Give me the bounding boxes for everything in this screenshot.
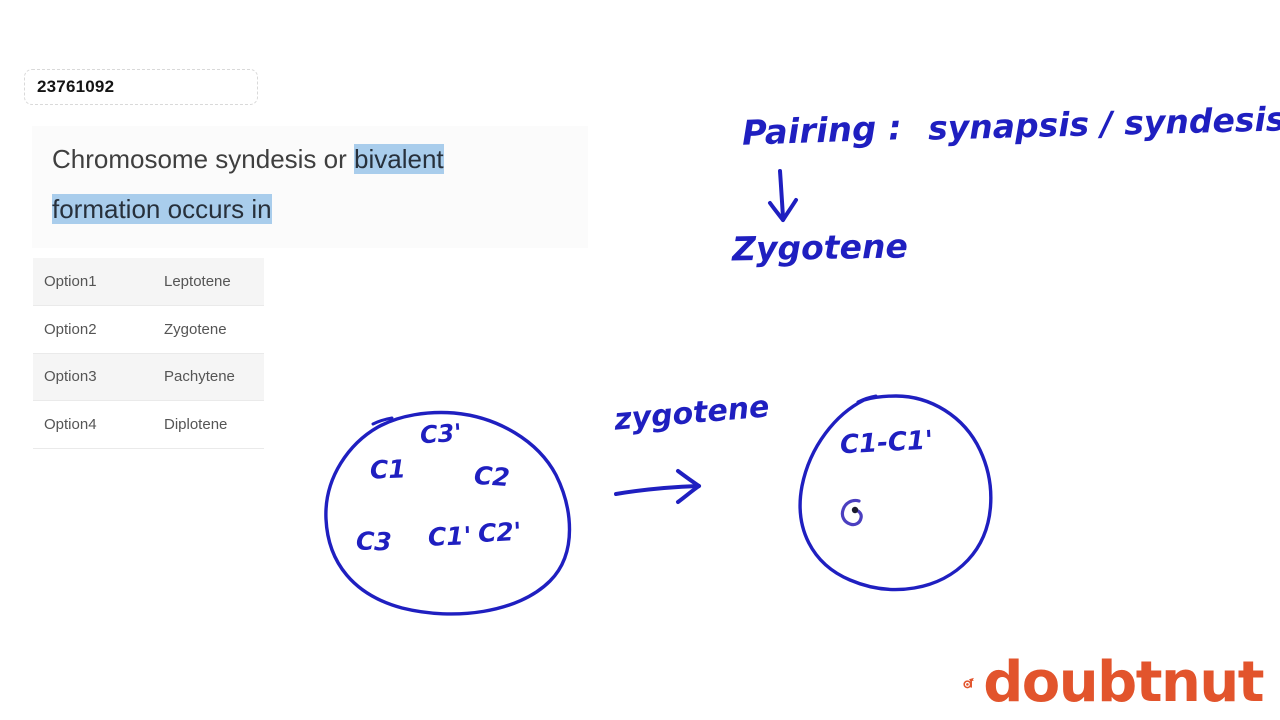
label-text: C3' bbox=[419, 419, 463, 450]
label-text: C2 bbox=[473, 461, 511, 492]
label-text: C1-C1' bbox=[839, 426, 934, 461]
option-key: Option3 bbox=[33, 353, 154, 401]
ink-pairing-label: Pairing : bbox=[741, 108, 902, 154]
doubtnut-wordmark: doubtnut bbox=[983, 655, 1263, 711]
question-id-badge: 23761092 bbox=[24, 69, 258, 105]
ink-chromosome-c3-prime: C3' bbox=[419, 419, 463, 450]
table-row[interactable]: Option4 Diplotene bbox=[33, 401, 264, 449]
option-key: Option1 bbox=[33, 258, 154, 306]
ink-chromosome-c2-prime: C2' bbox=[477, 517, 522, 548]
options-table: Option1 Leptotene Option2 Zygotene Optio… bbox=[33, 258, 264, 449]
ink-down-arrow bbox=[758, 168, 818, 230]
ink-synapsis-syndesis: synapsis / syndesis bbox=[928, 99, 1280, 147]
ink-spiral-mark bbox=[833, 489, 875, 531]
question-text-selected-1: bivalent bbox=[354, 144, 444, 174]
ink-chromosome-pair: C1-C1' bbox=[839, 426, 934, 461]
question-block: Chromosome syndesis or bivalentformation… bbox=[32, 126, 588, 248]
question-text-normal: Chromosome syndesis or bbox=[52, 144, 347, 174]
label-text: C1' bbox=[428, 521, 472, 551]
label-text: C3 bbox=[356, 526, 393, 556]
doubtnut-mark-icon bbox=[963, 651, 975, 715]
question-id-text: 23761092 bbox=[37, 77, 114, 97]
ink-zygotene-answer: Zygotene bbox=[732, 226, 908, 268]
ink-chromosome-c3: C3 bbox=[356, 526, 393, 556]
table-row[interactable]: Option3 Pachytene bbox=[33, 353, 264, 401]
label-text: C1 bbox=[370, 454, 407, 484]
left-cell-outline bbox=[310, 395, 590, 625]
question-text-selected-2: formation occurs in bbox=[52, 194, 272, 224]
table-row[interactable]: Option1 Leptotene bbox=[33, 258, 264, 306]
ink-chromosome-c2: C2 bbox=[473, 461, 511, 492]
right-cell-outline bbox=[788, 388, 1003, 603]
table-row[interactable]: Option2 Zygotene bbox=[33, 306, 264, 354]
ink-chromosome-c1: C1 bbox=[370, 454, 407, 484]
option-key: Option2 bbox=[33, 306, 154, 354]
option-value: Zygotene bbox=[154, 306, 264, 354]
label-text: C2' bbox=[477, 517, 522, 548]
option-value: Leptotene bbox=[154, 258, 264, 306]
ink-chromosome-c1-prime: C1' bbox=[428, 521, 472, 551]
ink-zygotene-transition: zygotene bbox=[613, 389, 771, 437]
doubtnut-logo: doubtnut bbox=[963, 650, 1263, 716]
option-value: Diplotene bbox=[154, 401, 264, 449]
ink-right-arrow bbox=[612, 468, 712, 514]
question-text: Chromosome syndesis or bivalentformation… bbox=[32, 134, 588, 234]
option-value: Pachytene bbox=[154, 353, 264, 401]
option-key: Option4 bbox=[33, 401, 154, 449]
